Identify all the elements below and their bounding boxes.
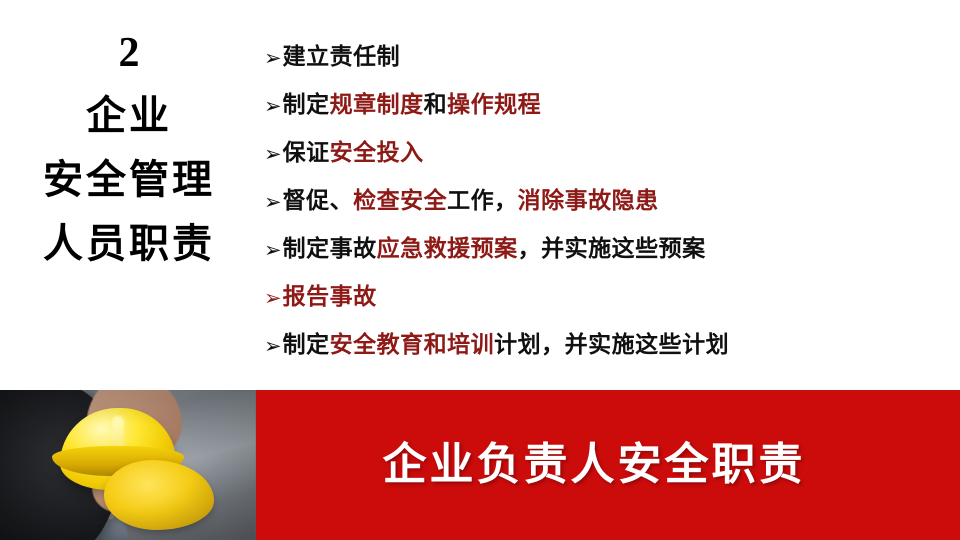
photo-vignette — [0, 390, 256, 540]
bullet-text-segment: 制定 — [283, 332, 330, 358]
bullet-text-segment: 计划，并实施这些计划 — [494, 332, 729, 358]
bullet-arrow-icon: ➢ — [264, 91, 283, 121]
title-line-1: 企业 — [0, 92, 258, 140]
title-column: 2 企业 安全管理 人员职责 — [0, 30, 258, 385]
bullet-item: ➢建立责任制 — [264, 42, 954, 90]
bullet-text-segment: 制定事故 — [283, 236, 377, 262]
bullet-text-segment: 督促、 — [283, 188, 354, 214]
bullet-text: 督促、检查安全工作，消除事故隐患 — [283, 186, 659, 216]
bullet-arrow-icon: ➢ — [264, 139, 283, 169]
section-number: 2 — [0, 30, 258, 76]
bullet-item: ➢报告事故 — [264, 282, 954, 330]
bullet-item: ➢保证安全投入 — [264, 138, 954, 186]
bullet-text: 报告事故 — [283, 282, 377, 312]
bullet-text-segment: 消除事故隐患 — [518, 188, 659, 214]
bullet-text: 保证安全投入 — [283, 138, 424, 168]
bullet-text-segment: 应急救援预案 — [377, 236, 518, 262]
banner-title: 企业负责人安全职责 — [383, 440, 806, 490]
bullet-item: ➢制定安全教育和培训计划，并实施这些计划 — [264, 330, 954, 378]
worker-hard-hat-photo — [0, 390, 256, 540]
bullet-text: 制定安全教育和培训计划，并实施这些计划 — [283, 330, 730, 360]
bullet-text-segment: 建立责任制 — [283, 44, 401, 70]
bullet-item: ➢制定事故应急救援预案，并实施这些预案 — [264, 234, 954, 282]
bullet-arrow-icon: ➢ — [264, 187, 283, 217]
bullet-arrow-icon: ➢ — [264, 235, 283, 265]
slide-root: 2 企业 安全管理 人员职责 ➢建立责任制➢制定规章制度和操作规程➢保证安全投入… — [0, 0, 960, 540]
bullet-list: ➢建立责任制➢制定规章制度和操作规程➢保证安全投入➢督促、检查安全工作，消除事故… — [264, 42, 954, 378]
slide-content-area: 2 企业 安全管理 人员职责 ➢建立责任制➢制定规章制度和操作规程➢保证安全投入… — [0, 0, 960, 390]
bullet-text-segment: ，并实施这些预案 — [518, 236, 706, 262]
bullet-text-segment: 操作规程 — [447, 92, 541, 118]
bullet-text: 制定规章制度和操作规程 — [283, 90, 542, 120]
bullet-text-segment: 报告事故 — [283, 284, 377, 310]
bullet-text-segment: 安全教育和培训 — [330, 332, 495, 358]
bullet-text: 制定事故应急救援预案，并实施这些预案 — [283, 234, 706, 264]
bullet-arrow-icon: ➢ — [264, 331, 283, 361]
bullet-text-segment: 和 — [424, 92, 448, 118]
bullet-arrow-icon: ➢ — [264, 43, 283, 73]
title-line-2: 安全管理 — [0, 156, 258, 204]
bullet-text-segment: 安全投入 — [330, 140, 424, 166]
bullet-text-segment: 检查安全 — [353, 188, 447, 214]
title-line-3: 人员职责 — [0, 220, 258, 268]
bullet-text-segment: 规章制度 — [330, 92, 424, 118]
bullet-item: ➢制定规章制度和操作规程 — [264, 90, 954, 138]
bullet-item: ➢督促、检查安全工作，消除事故隐患 — [264, 186, 954, 234]
bottom-banner: 企业负责人安全职责 — [0, 390, 960, 540]
banner-red-panel: 企业负责人安全职责 — [256, 390, 960, 540]
bullet-text-segment: 制定 — [283, 92, 330, 118]
bullet-text-segment: 工作， — [447, 188, 518, 214]
bullet-arrow-icon: ➢ — [264, 283, 283, 313]
bullet-text-segment: 保证 — [283, 140, 330, 166]
bullet-text: 建立责任制 — [283, 42, 401, 72]
